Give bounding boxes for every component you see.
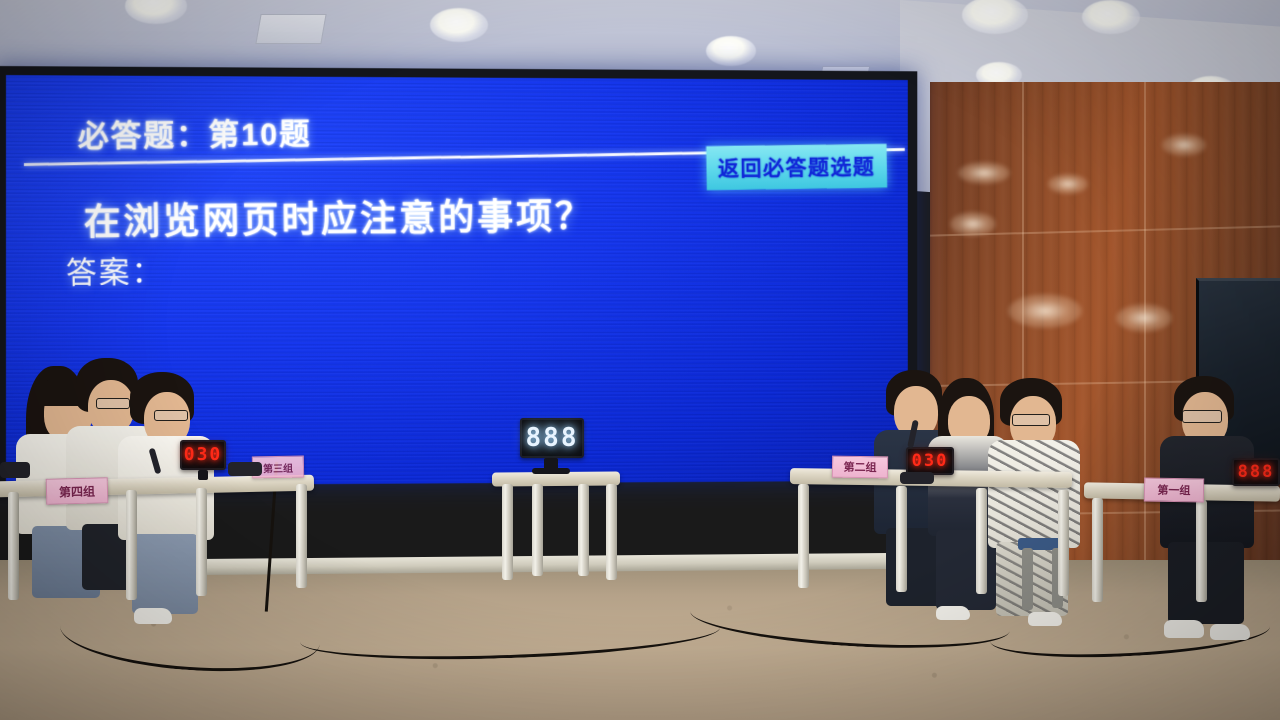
wall-reflection — [1116, 304, 1172, 332]
table-leg — [976, 488, 987, 594]
legs — [132, 534, 198, 614]
table-leg — [532, 484, 543, 576]
wall-reflection — [1048, 174, 1088, 194]
answer-label: 答案： — [65, 246, 164, 292]
table-leg — [606, 484, 617, 580]
glasses-icon — [154, 410, 188, 421]
microphone-base — [0, 462, 30, 478]
table-leg — [1196, 500, 1207, 602]
ceiling-light — [706, 36, 756, 66]
table-leg — [126, 490, 137, 600]
stool-leg — [1022, 548, 1033, 610]
ceiling-vent — [255, 14, 326, 44]
shoe — [1210, 624, 1250, 640]
wall-reflection — [958, 162, 1010, 184]
table-leg — [798, 484, 809, 588]
wood-seam — [1144, 82, 1146, 602]
wall-reflection — [1162, 134, 1206, 156]
glasses-icon — [1012, 414, 1050, 426]
nameplate-team-2: 第二组 — [832, 456, 888, 479]
question-text: 在浏览网页时应注意的事项？ — [83, 186, 594, 246]
table-leg — [8, 492, 19, 600]
nameplate-team-1: 第一组 — [1144, 477, 1204, 502]
student-right-3 — [988, 378, 1098, 628]
legs — [936, 530, 996, 610]
shoe — [936, 606, 970, 620]
timer-center: 888 — [520, 418, 584, 458]
timer-digits: 030 — [184, 446, 223, 464]
screenshot-scene: 必答题：第10题 返回必答题选题 在浏览网页时应注意的事项？ 答案： — [0, 0, 1280, 720]
timer-stand — [198, 470, 208, 480]
table-leg — [1092, 498, 1103, 602]
timer-team-4: 030 — [180, 440, 226, 470]
microphone-base — [900, 472, 934, 484]
table-leg — [578, 484, 589, 576]
microphone-base — [228, 462, 262, 476]
timer-team-1: 888 — [1232, 458, 1280, 486]
table-leg — [296, 484, 307, 588]
ceiling-light — [430, 8, 488, 42]
ceiling-light — [1082, 0, 1140, 34]
table-leg — [1058, 490, 1069, 596]
wall-reflection — [950, 212, 996, 236]
return-to-question-list-button[interactable]: 返回必答题选题 — [706, 144, 887, 190]
student-far-right — [1160, 376, 1270, 642]
table-leg — [196, 488, 207, 596]
glasses-icon — [1182, 410, 1222, 423]
timer-team-2: 030 — [906, 447, 954, 475]
shoe — [1028, 612, 1062, 626]
table-leg — [896, 486, 907, 592]
nameplate-team-4: 第四组 — [46, 477, 109, 505]
shoe — [1164, 620, 1204, 638]
timer-digits: 888 — [1238, 464, 1275, 481]
shoe — [134, 608, 172, 624]
slide-title: 必答题：第10题 — [77, 109, 311, 157]
table-leg — [502, 484, 513, 580]
wall-reflection — [1008, 294, 1082, 328]
timer-base — [532, 468, 570, 474]
timer-digits: 888 — [526, 425, 579, 451]
timer-digits: 030 — [912, 453, 949, 470]
